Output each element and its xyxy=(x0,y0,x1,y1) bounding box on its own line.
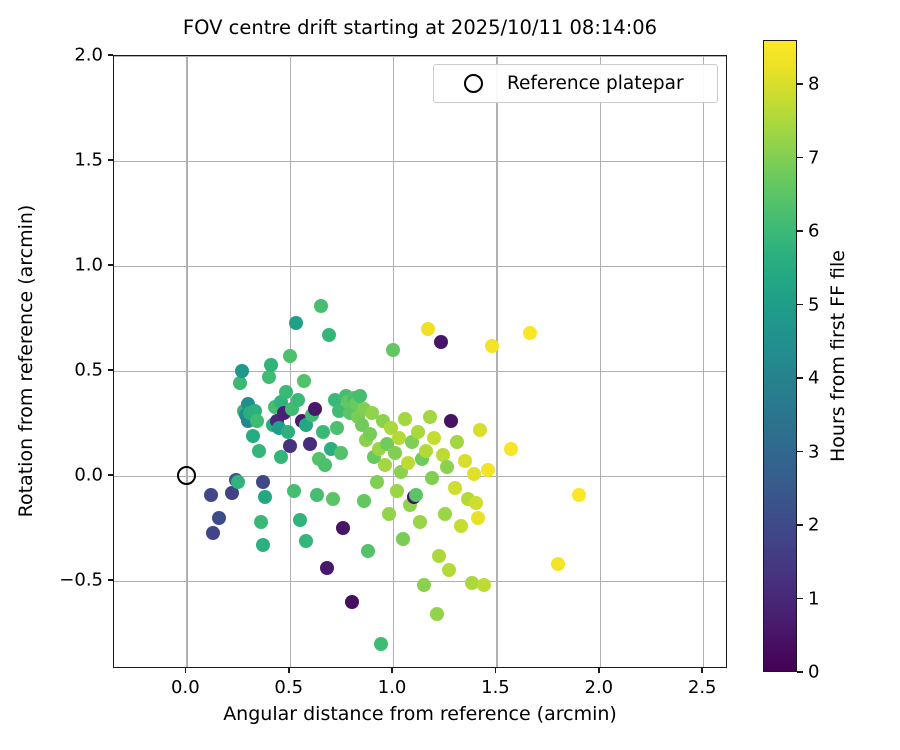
scatter-point xyxy=(314,299,328,313)
scatter-point xyxy=(413,515,427,529)
gridline-vertical xyxy=(496,56,497,667)
y-tick-label: 1.5 xyxy=(51,149,103,170)
scatter-point xyxy=(523,326,537,340)
scatter-point xyxy=(458,454,472,468)
colorbar-tick-mark xyxy=(797,598,803,599)
y-tick-mark xyxy=(108,54,113,56)
scatter-point xyxy=(438,507,452,521)
x-tick-mark xyxy=(701,668,703,673)
scatter-point xyxy=(448,481,462,495)
colorbar-tick-label: 1 xyxy=(808,588,819,609)
scatter-point xyxy=(297,374,311,388)
scatter-point xyxy=(411,425,425,439)
colorbar-label: Hours from first FF file xyxy=(827,250,849,462)
colorbar-tick-label: 0 xyxy=(808,662,819,683)
scatter-point xyxy=(504,442,518,456)
scatter-point xyxy=(326,492,340,506)
scatter-point xyxy=(254,515,268,529)
x-tick-label: 1.5 xyxy=(481,677,510,698)
y-tick-mark xyxy=(108,474,113,476)
scatter-point xyxy=(289,316,303,330)
page-title: FOV centre drift starting at 2025/10/11 … xyxy=(113,16,727,39)
scatter-point xyxy=(212,511,226,525)
scatter-point xyxy=(264,358,278,372)
colorbar-tick-mark xyxy=(797,157,803,158)
scatter-point xyxy=(396,532,410,546)
x-tick-mark xyxy=(185,668,187,673)
scatter-point xyxy=(409,488,423,502)
scatter-point xyxy=(299,534,313,548)
y-tick-label: −0.5 xyxy=(51,569,103,590)
gridline-horizontal xyxy=(114,476,726,477)
scatter-point xyxy=(233,376,247,390)
scatter-point xyxy=(353,389,367,403)
x-tick-label: 0.5 xyxy=(274,677,303,698)
scatter-point xyxy=(454,519,468,533)
colorbar[interactable]: 012345678 xyxy=(763,40,797,672)
scatter-point xyxy=(481,463,495,477)
y-tick-mark xyxy=(108,159,113,161)
scatter-point xyxy=(363,427,377,441)
scatter-point xyxy=(330,421,344,435)
scatter-point xyxy=(322,328,336,342)
scatter-point xyxy=(310,488,324,502)
scatter-point xyxy=(444,414,458,428)
scatter-point xyxy=(262,370,276,384)
colorbar-tick-mark xyxy=(797,671,803,672)
scatter-point xyxy=(417,578,431,592)
y-tick-mark xyxy=(108,264,113,266)
scatter-point xyxy=(430,607,444,621)
gridline-vertical xyxy=(703,56,704,667)
scatter-point xyxy=(361,544,375,558)
scatter-point xyxy=(440,460,454,474)
gridline-horizontal xyxy=(114,266,726,267)
x-tick-mark xyxy=(391,668,393,673)
scatter-point xyxy=(421,322,435,336)
colorbar-tick-label: 4 xyxy=(808,368,819,389)
scatter-point xyxy=(425,471,439,485)
x-tick-label: 2.0 xyxy=(584,677,613,698)
scatter-point xyxy=(386,343,400,357)
colorbar-tick-label: 5 xyxy=(808,294,819,315)
scatter-point xyxy=(334,446,348,460)
colorbar-tick-label: 2 xyxy=(808,515,819,536)
legend-entry-label: Reference platepar xyxy=(507,73,684,94)
scatter-point xyxy=(293,513,307,527)
scatter-point xyxy=(206,526,220,540)
scatter-point xyxy=(345,595,359,609)
y-tick-label: 2.0 xyxy=(51,45,103,66)
y-axis-label: Rotation from reference (arcmin) xyxy=(15,81,37,641)
scatter-point xyxy=(250,414,264,428)
scatter-point xyxy=(256,475,270,489)
scatter-point xyxy=(485,339,499,353)
x-tick-mark xyxy=(598,668,600,673)
gridline-vertical xyxy=(393,56,394,667)
y-tick-label: 0.0 xyxy=(51,464,103,485)
scatter-point xyxy=(204,488,218,502)
scatter-point xyxy=(398,412,412,426)
scatter-point xyxy=(370,475,384,489)
y-tick-label: 0.5 xyxy=(51,359,103,380)
scatter-point xyxy=(469,496,483,510)
scatter-point xyxy=(320,561,334,575)
scatter-point xyxy=(382,507,396,521)
gridline-horizontal xyxy=(114,56,726,57)
colorbar-tick-mark xyxy=(797,377,803,378)
scatter-point xyxy=(256,538,270,552)
colorbar-tick-label: 3 xyxy=(808,441,819,462)
scatter-point xyxy=(423,410,437,424)
scatter-point xyxy=(378,458,392,472)
colorbar-tick-label: 6 xyxy=(808,221,819,242)
colorbar-tick-mark xyxy=(797,304,803,305)
colorbar-tick-label: 7 xyxy=(808,147,819,168)
scatter-point xyxy=(419,444,433,458)
scatter-point xyxy=(388,446,402,460)
scatter-point xyxy=(450,435,464,449)
gridline-horizontal xyxy=(114,371,726,372)
scatter-point xyxy=(401,456,415,470)
gridline-horizontal xyxy=(114,161,726,162)
scatter-point xyxy=(303,437,317,451)
scatter-point xyxy=(291,393,305,407)
scatter-plot-axes[interactable] xyxy=(113,55,727,668)
scatter-point xyxy=(374,637,388,651)
x-tick-mark xyxy=(288,668,290,673)
scatter-point xyxy=(551,557,565,571)
x-tick-mark xyxy=(495,668,497,673)
scatter-point xyxy=(427,431,441,445)
scatter-point xyxy=(283,439,297,453)
scatter-point xyxy=(318,458,332,472)
x-axis-label: Angular distance from reference (arcmin) xyxy=(113,703,727,725)
scatter-point xyxy=(235,364,249,378)
reference-platepar-circle-icon xyxy=(177,466,196,485)
scatter-point xyxy=(308,402,322,416)
colorbar-tick-mark xyxy=(797,230,803,231)
figure-canvas: FOV centre drift starting at 2025/10/11 … xyxy=(0,0,900,750)
x-tick-label: 1.0 xyxy=(378,677,407,698)
x-tick-label: 2.5 xyxy=(688,677,717,698)
gridline-vertical xyxy=(600,56,601,667)
legend-open-circle-icon xyxy=(464,74,483,93)
scatter-point xyxy=(357,494,371,508)
colorbar-gradient xyxy=(763,40,797,672)
x-tick-label: 0.0 xyxy=(171,677,200,698)
scatter-point xyxy=(281,425,295,439)
scatter-point xyxy=(316,425,330,439)
scatter-point xyxy=(473,423,487,437)
colorbar-tick-label: 8 xyxy=(808,74,819,95)
colorbar-tick-mark xyxy=(797,83,803,84)
gridline-vertical xyxy=(186,56,187,667)
scatter-point xyxy=(287,484,301,498)
scatter-point xyxy=(246,429,260,443)
scatter-point xyxy=(442,563,456,577)
y-tick-mark xyxy=(108,579,113,581)
scatter-point xyxy=(390,484,404,498)
colorbar-tick-mark xyxy=(797,451,803,452)
scatter-point xyxy=(432,549,446,563)
scatter-point xyxy=(336,521,350,535)
y-tick-mark xyxy=(108,369,113,371)
legend-box[interactable]: Reference platepar xyxy=(433,64,718,103)
scatter-point xyxy=(467,467,481,481)
scatter-point xyxy=(572,488,586,502)
scatter-point xyxy=(434,335,448,349)
scatter-point xyxy=(252,444,266,458)
scatter-point xyxy=(471,511,485,525)
scatter-point xyxy=(477,578,491,592)
scatter-point xyxy=(283,349,297,363)
scatter-point xyxy=(231,475,245,489)
scatter-point xyxy=(258,490,272,504)
colorbar-tick-mark xyxy=(797,524,803,525)
y-tick-label: 1.0 xyxy=(51,254,103,275)
